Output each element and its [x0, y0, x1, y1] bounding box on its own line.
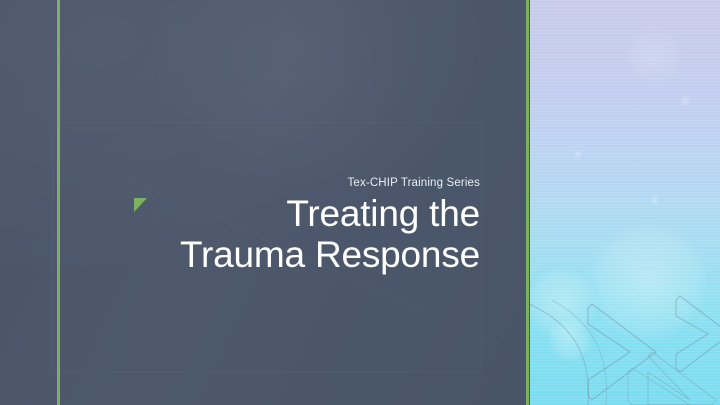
slide-light-panel [530, 0, 720, 405]
slide-title-line-2: Trauma Response [120, 234, 480, 275]
title-block: Tex-CHIP Training Series Treating the Tr… [120, 176, 480, 275]
chevron-motif [530, 0, 720, 405]
slide-eyebrow: Tex-CHIP Training Series [120, 176, 480, 190]
left-accent-rule [57, 0, 60, 405]
slide-title-line-1: Treating the [120, 193, 480, 234]
title-slide: Tex-CHIP Training Series Treating the Tr… [0, 0, 720, 405]
right-accent-rule [526, 0, 529, 405]
